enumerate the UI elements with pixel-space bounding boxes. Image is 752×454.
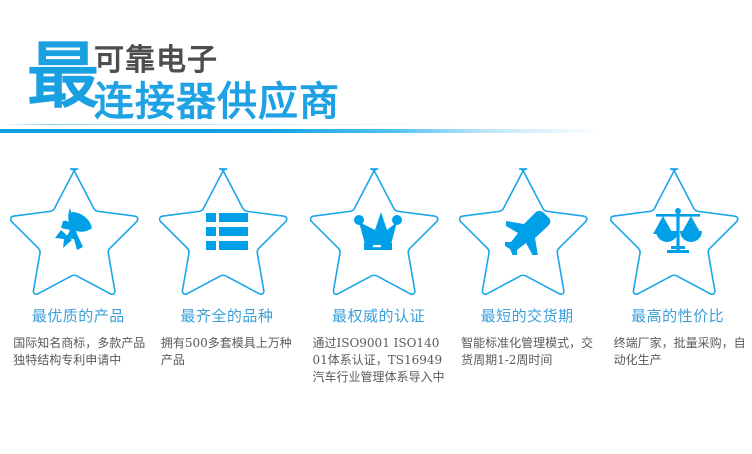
star-badge: [610, 168, 746, 296]
feature-title: 最权威的认证: [332, 305, 425, 326]
airplane-icon: [459, 168, 595, 296]
star-badge: [310, 168, 446, 296]
star-badge: [10, 168, 146, 296]
feature-item: 最短的交货期 智能标准化管理模式，交货周期1-2周时间: [453, 168, 602, 369]
balance-scale-icon: [610, 168, 746, 296]
headline-big-character: 最: [27, 34, 99, 118]
headline-main-title: 连接器供应商: [94, 79, 340, 125]
star-badge: [159, 168, 295, 296]
feature-title: 最优质的产品: [32, 305, 125, 326]
feature-item: 最权威的认证 通过ISO9001 ISO14001体系认证，TS16949汽车行…: [304, 168, 453, 386]
feature-item: 最齐全的品种 拥有500多套模具上万种产品: [153, 168, 302, 369]
header-divider-highlight: [0, 124, 470, 125]
header-divider: [0, 129, 600, 133]
feature-description: 通过ISO9001 ISO14001体系认证，TS16949汽车行业管理体系导入…: [310, 335, 446, 386]
star-badge: [459, 168, 595, 296]
crown-icon: [310, 168, 446, 296]
feature-list: 最优质的产品 国际知名商标，多款产品独特结构专利申请中: [0, 168, 752, 386]
feature-item: 最优质的产品 国际知名商标，多款产品独特结构专利申请中: [4, 168, 153, 369]
feature-description: 国际知名商标，多款产品独特结构专利申请中: [9, 335, 147, 369]
feature-description: 智能标准化管理模式，交货周期1-2周时间: [459, 335, 595, 369]
award-ribbon-icon: [10, 168, 146, 296]
feature-description: 拥有500多套模具上万种产品: [159, 335, 295, 369]
headline-subtitle: 可靠电子: [94, 43, 218, 79]
feature-title: 最高的性价比: [631, 305, 724, 326]
feature-item: 最高的性价比 终端厂家，批量采购，自动化生产: [603, 168, 752, 369]
feature-title: 最齐全的品种: [180, 305, 273, 326]
page-header: 最 可靠电子 连接器供应商: [0, 0, 752, 140]
list-grid-icon: [159, 168, 295, 296]
feature-title: 最短的交货期: [481, 305, 574, 326]
feature-description: 终端厂家，批量采购，自动化生产: [608, 335, 748, 369]
